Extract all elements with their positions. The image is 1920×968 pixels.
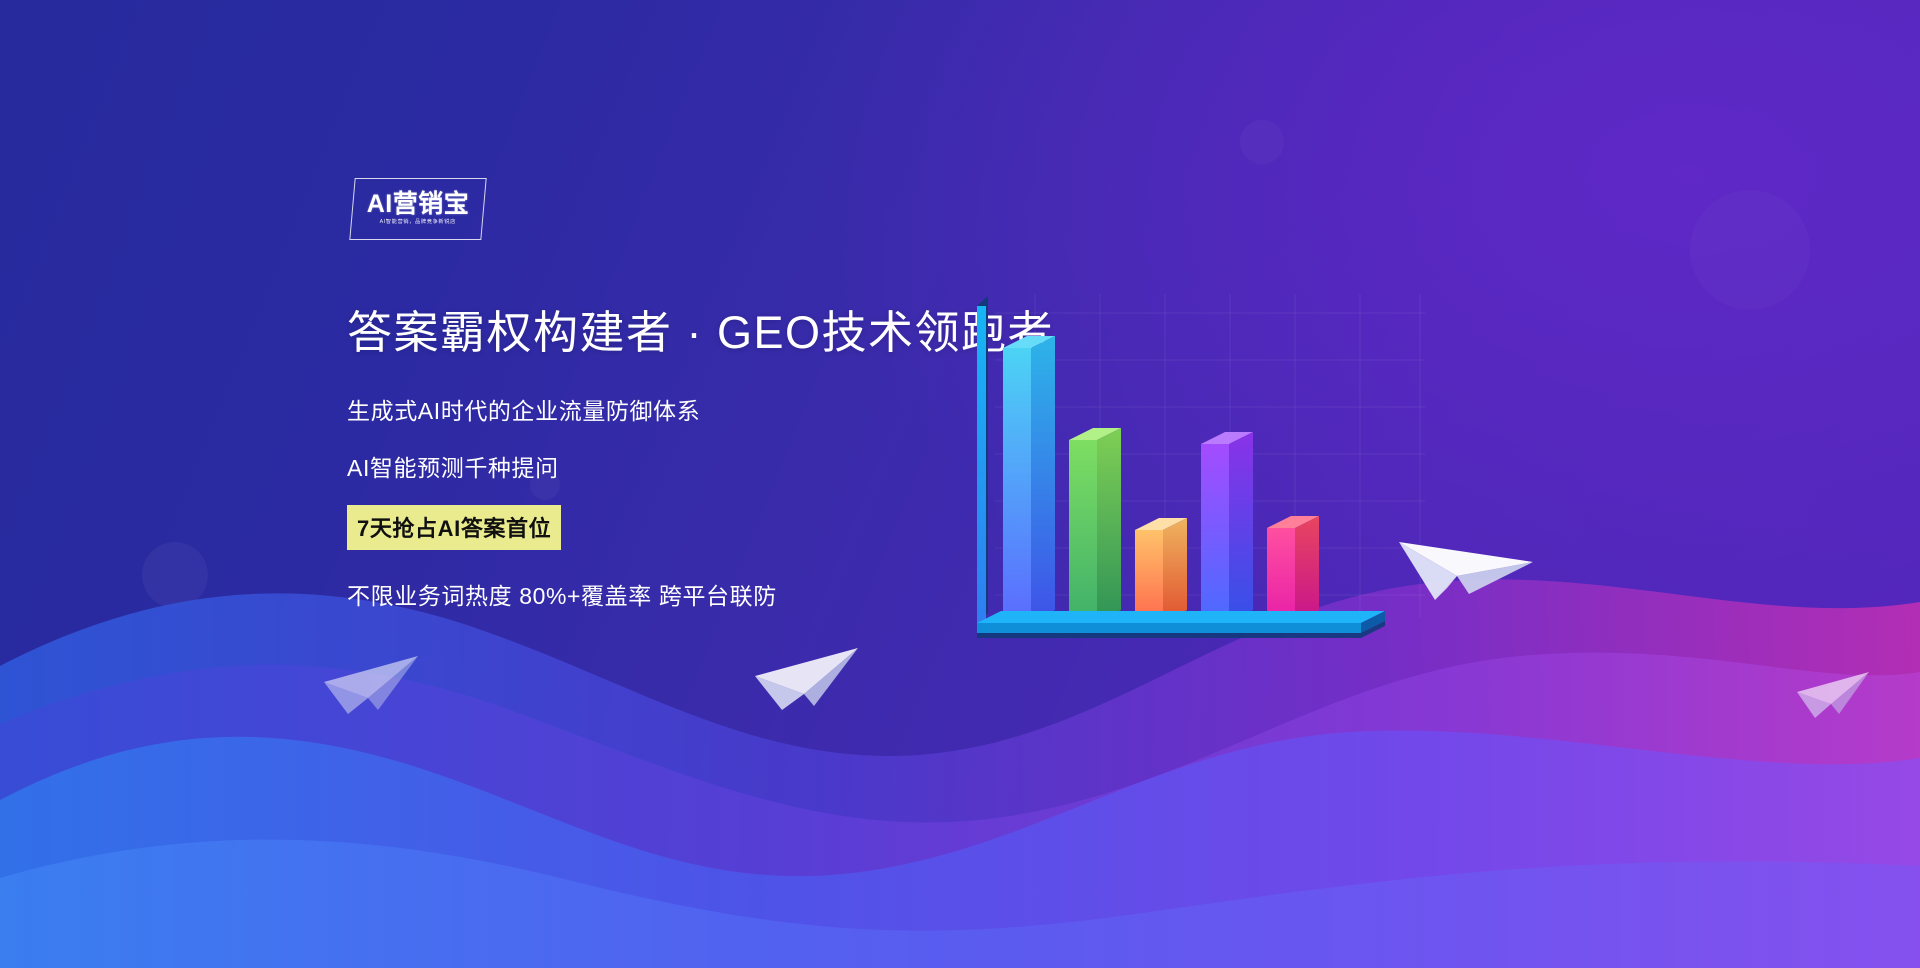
logo-text: AI营销宝 <box>367 192 470 217</box>
chart-bar <box>1069 428 1121 622</box>
chart-y-axis <box>977 296 988 623</box>
decorative-circle <box>1690 190 1810 310</box>
brand-logo[interactable]: AI营销宝 AI智能营销，品牌竞争新锐店 <box>352 178 484 240</box>
logo-inner: AI营销宝 AI智能营销，品牌竞争新锐店 <box>352 178 484 240</box>
hero-banner: AI营销宝 AI智能营销，品牌竞争新锐店 答案霸权构建者 · GEO技术领跑者 … <box>0 0 1920 968</box>
chart-bar <box>1201 432 1253 622</box>
hero-highlight-badge: 7天抢占AI答案首位 <box>347 505 561 550</box>
chart-bar <box>1135 518 1187 622</box>
chart-bar <box>1267 516 1319 622</box>
chart-base <box>977 611 1385 638</box>
bar-chart-illustration <box>965 288 1435 663</box>
chart-bar <box>1003 336 1055 622</box>
decorative-circle <box>1240 120 1284 164</box>
logo-tagline: AI智能营销，品牌竞争新锐店 <box>380 220 456 225</box>
